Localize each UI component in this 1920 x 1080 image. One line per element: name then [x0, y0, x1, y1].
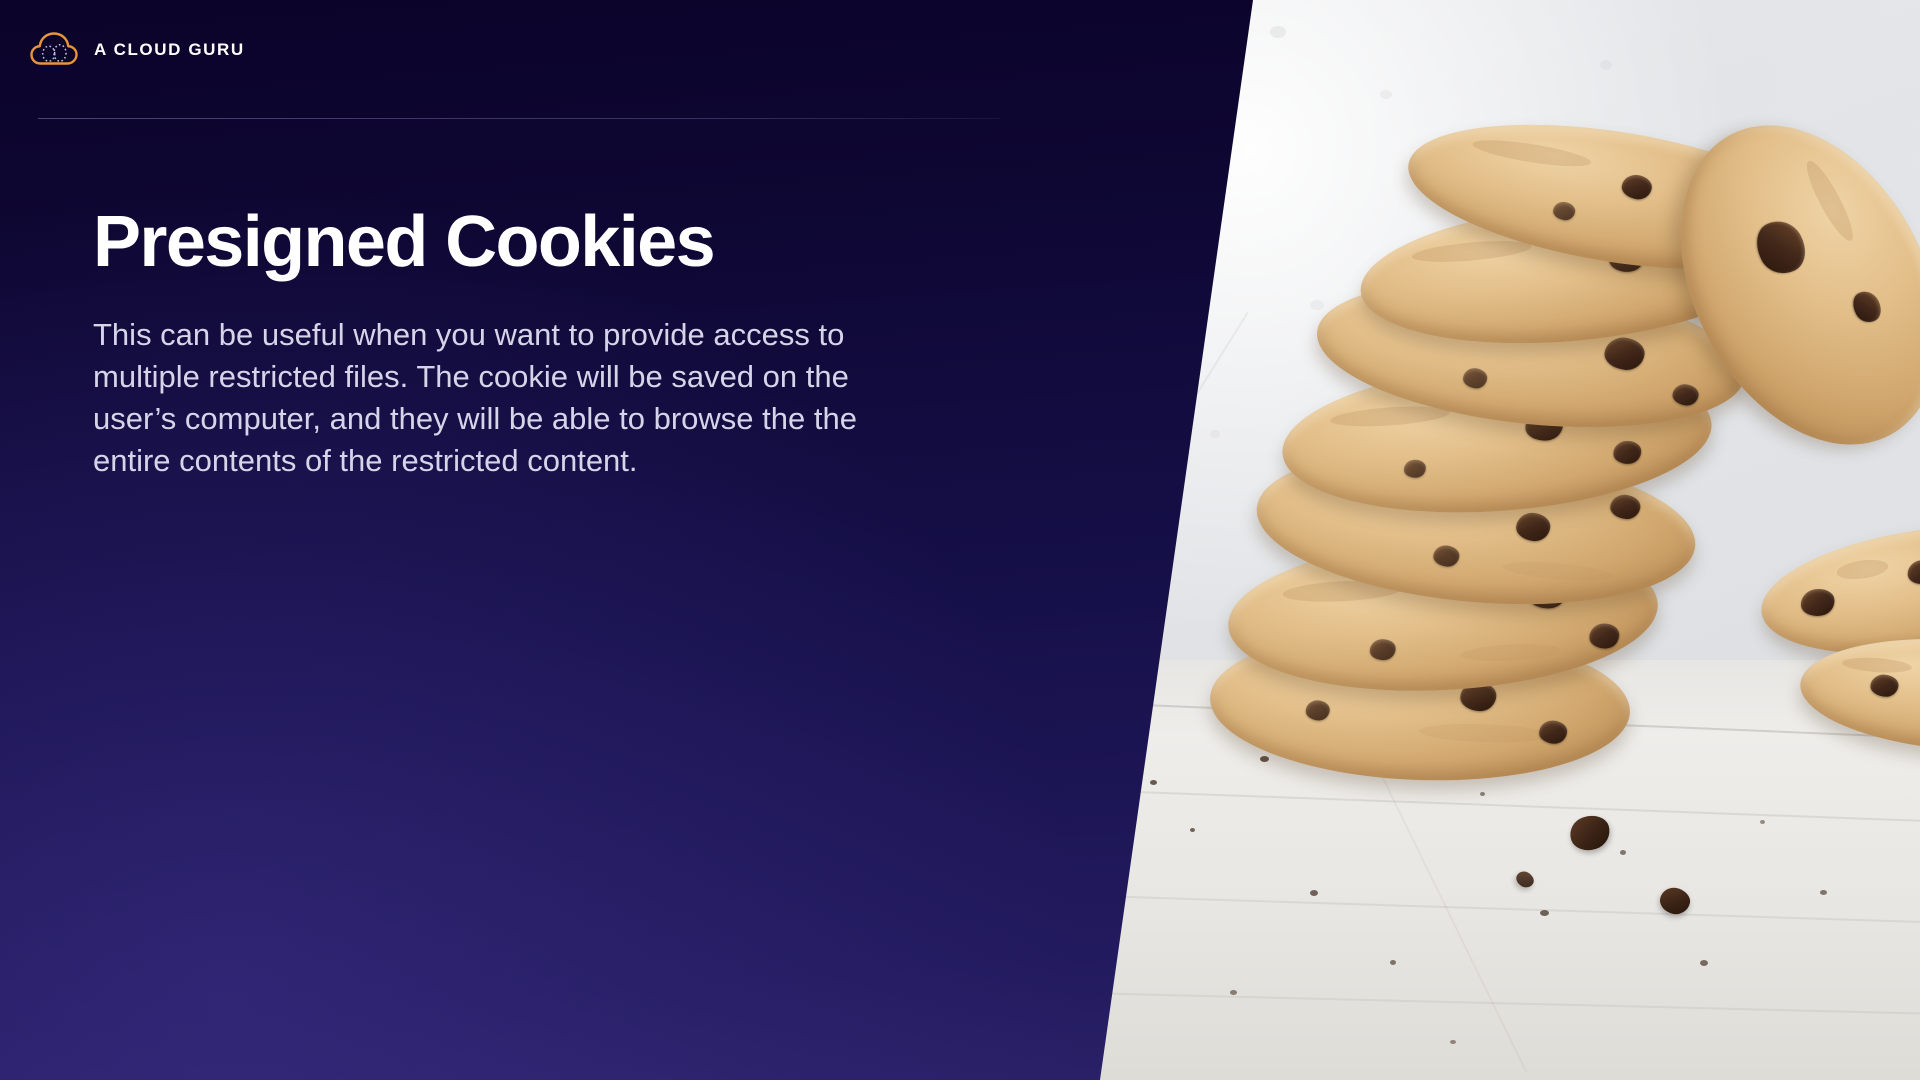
- panel-sheen: [0, 0, 1270, 1080]
- content-panel: A CLOUD GURU Presigned Cookies This can …: [0, 0, 1270, 1080]
- cloud-guru-logo-icon: [30, 30, 78, 70]
- brand-lockup[interactable]: A CLOUD GURU: [30, 30, 245, 70]
- page-title: Presigned Cookies: [93, 206, 883, 278]
- slide-content: Presigned Cookies This can be useful whe…: [93, 206, 883, 483]
- slide-body-text: This can be useful when you want to prov…: [93, 314, 863, 483]
- header-divider: [38, 118, 1000, 119]
- brand-name: A CLOUD GURU: [94, 40, 245, 60]
- slide-root: A CLOUD GURU Presigned Cookies This can …: [0, 0, 1920, 1080]
